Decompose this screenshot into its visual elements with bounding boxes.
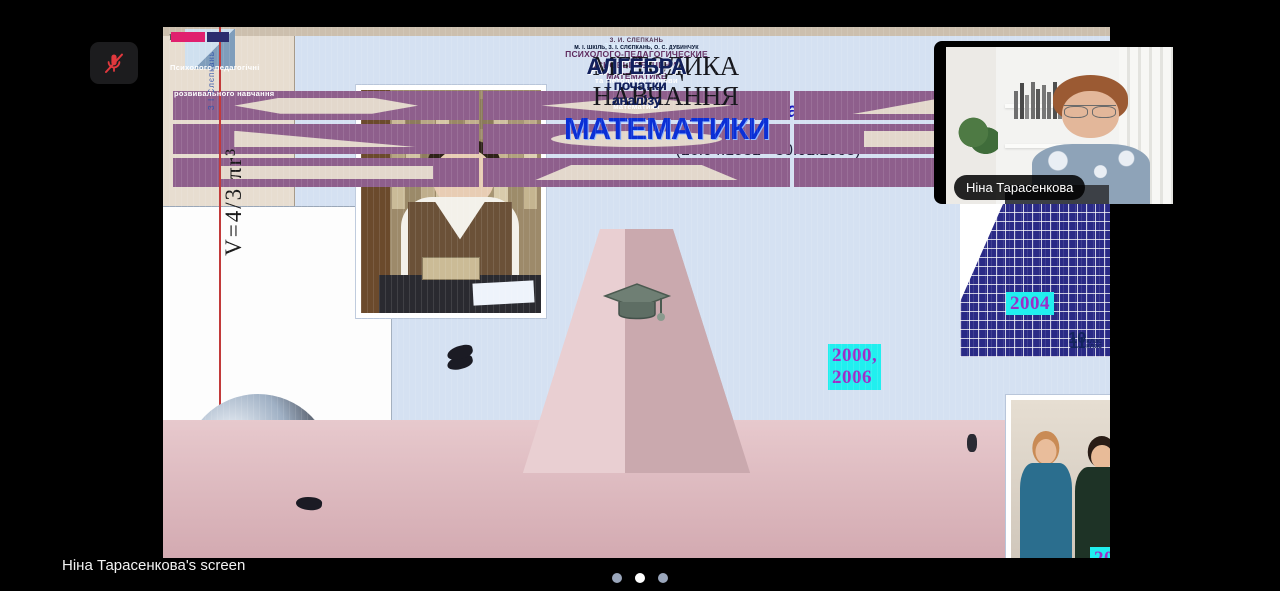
screen-share-stage: Зінаїда Іванівна Слєпкань (16.04.1931 - … (0, 0, 1280, 591)
slide-pagination[interactable] (0, 573, 1280, 583)
pagination-dot-3[interactable] (658, 573, 668, 583)
pagination-dot-2[interactable] (635, 573, 645, 583)
webcam-participant-name: Ніна Тарасенкова (954, 175, 1085, 200)
microphone-muted-button[interactable] (90, 42, 138, 84)
group-photo-image (1011, 400, 1110, 558)
microphone-muted-icon (102, 51, 126, 75)
graduation-cap-icon (601, 280, 673, 326)
group-photo (1006, 395, 1110, 558)
algebra-11-grade: 11клас (1069, 335, 1102, 353)
year-badge-2004: 2004 (1006, 292, 1054, 315)
webcam-tile[interactable]: Ніна Тарасенкова (934, 41, 1185, 204)
pagination-dot-1[interactable] (612, 573, 622, 583)
year-badge-2000-group: 2000 (1090, 547, 1110, 558)
screen-share-label: Ніна Тарасенкова's screen (62, 557, 245, 574)
